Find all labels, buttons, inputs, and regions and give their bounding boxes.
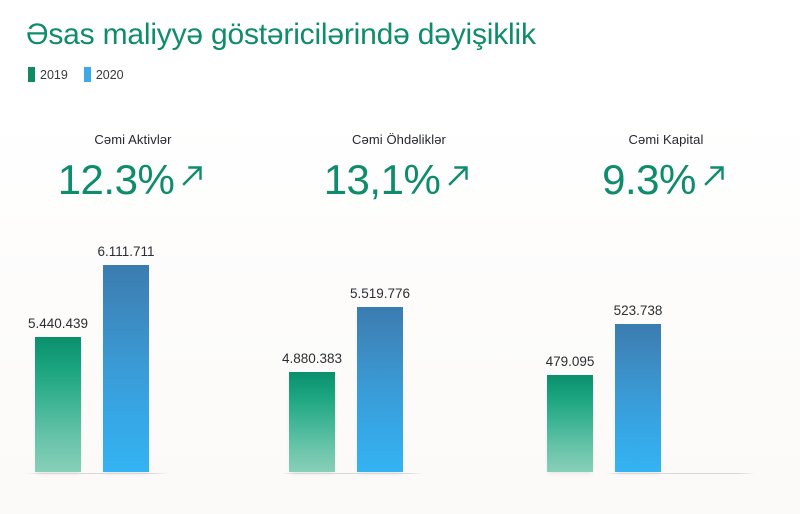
metric-label: Cəmi Aktivlər: [0, 132, 266, 147]
metric-change: 13,1%: [266, 156, 532, 204]
legend-item-2020: 2020: [84, 67, 124, 82]
chart-plot-area: Cəmi Aktivlər 12.3% 5.440.439 6.111.711 …: [0, 112, 800, 514]
metric-label: Cəmi Öhdəliklər: [266, 132, 532, 147]
metric-change-value: 9.3%: [602, 156, 696, 203]
bar-2019[interactable]: [35, 337, 81, 472]
page-title: Əsas maliyyə göstəricilərində dəyişiklik: [26, 18, 536, 52]
legend-item-2019: 2019: [28, 67, 68, 82]
baseline-divider: [280, 473, 424, 474]
bar-2020[interactable]: [103, 265, 149, 472]
bar-2019[interactable]: [289, 372, 335, 472]
legend-swatch-2019: [28, 67, 35, 82]
baseline-divider: [26, 473, 170, 474]
legend-label-2019: 2019: [40, 68, 68, 82]
bar-value-label: 6.111.711: [72, 244, 180, 259]
metric-group-cemi-ohdelikler: Cəmi Öhdəliklər 13,1% 4.880.383 5.519.77…: [266, 112, 532, 514]
metric-group-cemi-kapital: Cəmi Kapital 9.3% 479.095 523.738: [532, 112, 800, 514]
infographic-root: Əsas maliyyə göstəricilərində dəyişiklik…: [0, 0, 800, 514]
legend-swatch-2020: [84, 67, 91, 82]
bar-pair: 5.440.439 6.111.711: [0, 222, 266, 472]
bar-value-label: 523.738: [584, 303, 692, 318]
baseline-divider: [604, 473, 756, 474]
bar-value-label: 5.519.776: [326, 286, 434, 301]
metric-change-value: 13,1%: [324, 156, 441, 203]
metric-change: 9.3%: [532, 156, 800, 204]
bar-value-label: 5.440.439: [4, 316, 112, 331]
metric-change: 12.3%: [0, 156, 266, 204]
metric-change-value: 12.3%: [58, 156, 175, 203]
bar-pair: 479.095 523.738: [532, 222, 800, 472]
metric-group-cemi-aktivler: Cəmi Aktivlər 12.3% 5.440.439 6.111.711: [0, 112, 266, 514]
arrow-up-right-icon: [178, 161, 208, 191]
metric-label: Cəmi Kapital: [532, 132, 800, 147]
bar-2019[interactable]: [547, 375, 593, 472]
bar-2020[interactable]: [357, 307, 403, 472]
bar-2020[interactable]: [615, 324, 661, 472]
bar-value-label: 479.095: [516, 354, 624, 369]
arrow-up-right-icon: [700, 161, 730, 191]
arrow-up-right-icon: [444, 161, 474, 191]
chart-legend: 2019 2020: [28, 67, 124, 82]
bar-pair: 4.880.383 5.519.776: [266, 222, 532, 472]
bar-value-label: 4.880.383: [258, 351, 366, 366]
legend-label-2020: 2020: [96, 68, 124, 82]
